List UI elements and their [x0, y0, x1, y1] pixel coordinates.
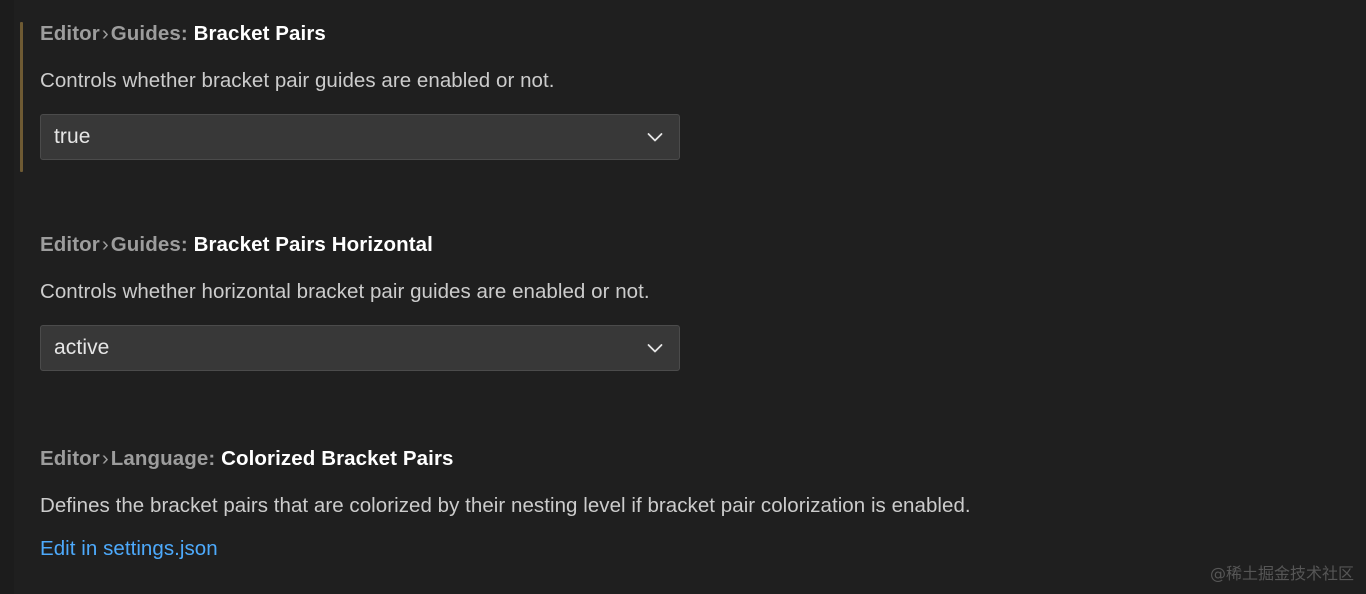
setting-name: Bracket Pairs [194, 22, 326, 45]
watermark: @稀土掘金技术社区 [1210, 560, 1354, 584]
setting-description-bracket-pairs-horizontal: Controls whether horizontal bracket pair… [40, 278, 1366, 305]
setting-title-bracket-pairs-horizontal: Editor›Guides: Bracket Pairs Horizontal [40, 232, 1366, 258]
edit-in-settings-json-link[interactable]: Edit in settings.json [40, 537, 218, 560]
breadcrumb-chevron: › [100, 233, 111, 256]
setting-group: Guides: [111, 233, 188, 256]
setting-title-bracket-pairs: Editor›Guides: Bracket Pairs [40, 18, 1366, 47]
setting-row-bracket-pairs[interactable]: Editor›Guides: Bracket Pairs Controls wh… [14, 18, 1366, 160]
settings-editor-pane: Editor›Guides: Bracket Pairs Controls wh… [0, 0, 1366, 594]
breadcrumb-chevron: › [100, 447, 111, 470]
dropdown-bracket-pairs[interactable]: true [40, 114, 680, 160]
setting-category: Editor [40, 233, 100, 256]
setting-group: Guides: [111, 22, 188, 45]
setting-description-bracket-pairs: Controls whether bracket pair guides are… [40, 67, 1366, 94]
dropdown-bracket-pairs-horizontal[interactable]: active [40, 325, 680, 371]
chevron-down-icon[interactable] [643, 336, 667, 360]
settings-gutter-strip [0, 0, 14, 594]
setting-group: Language: [111, 447, 216, 470]
setting-category: Editor [40, 22, 100, 45]
setting-name: Colorized Bracket Pairs [221, 447, 453, 470]
setting-title-colorized-bracket-pairs: Editor›Language: Colorized Bracket Pairs [40, 446, 1366, 472]
setting-description-colorized-bracket-pairs: Defines the bracket pairs that are color… [40, 492, 1366, 519]
chevron-down-icon[interactable] [643, 125, 667, 149]
setting-row-bracket-pairs-horizontal[interactable]: Editor›Guides: Bracket Pairs Horizontal … [14, 232, 1366, 371]
setting-row-colorized-bracket-pairs[interactable]: Editor›Language: Colorized Bracket Pairs… [14, 446, 1366, 562]
dropdown-selected-value: true [54, 115, 91, 159]
setting-name: Bracket Pairs Horizontal [194, 233, 433, 256]
breadcrumb-chevron: › [100, 22, 111, 45]
setting-category: Editor [40, 447, 100, 470]
dropdown-selected-value: active [54, 326, 109, 370]
